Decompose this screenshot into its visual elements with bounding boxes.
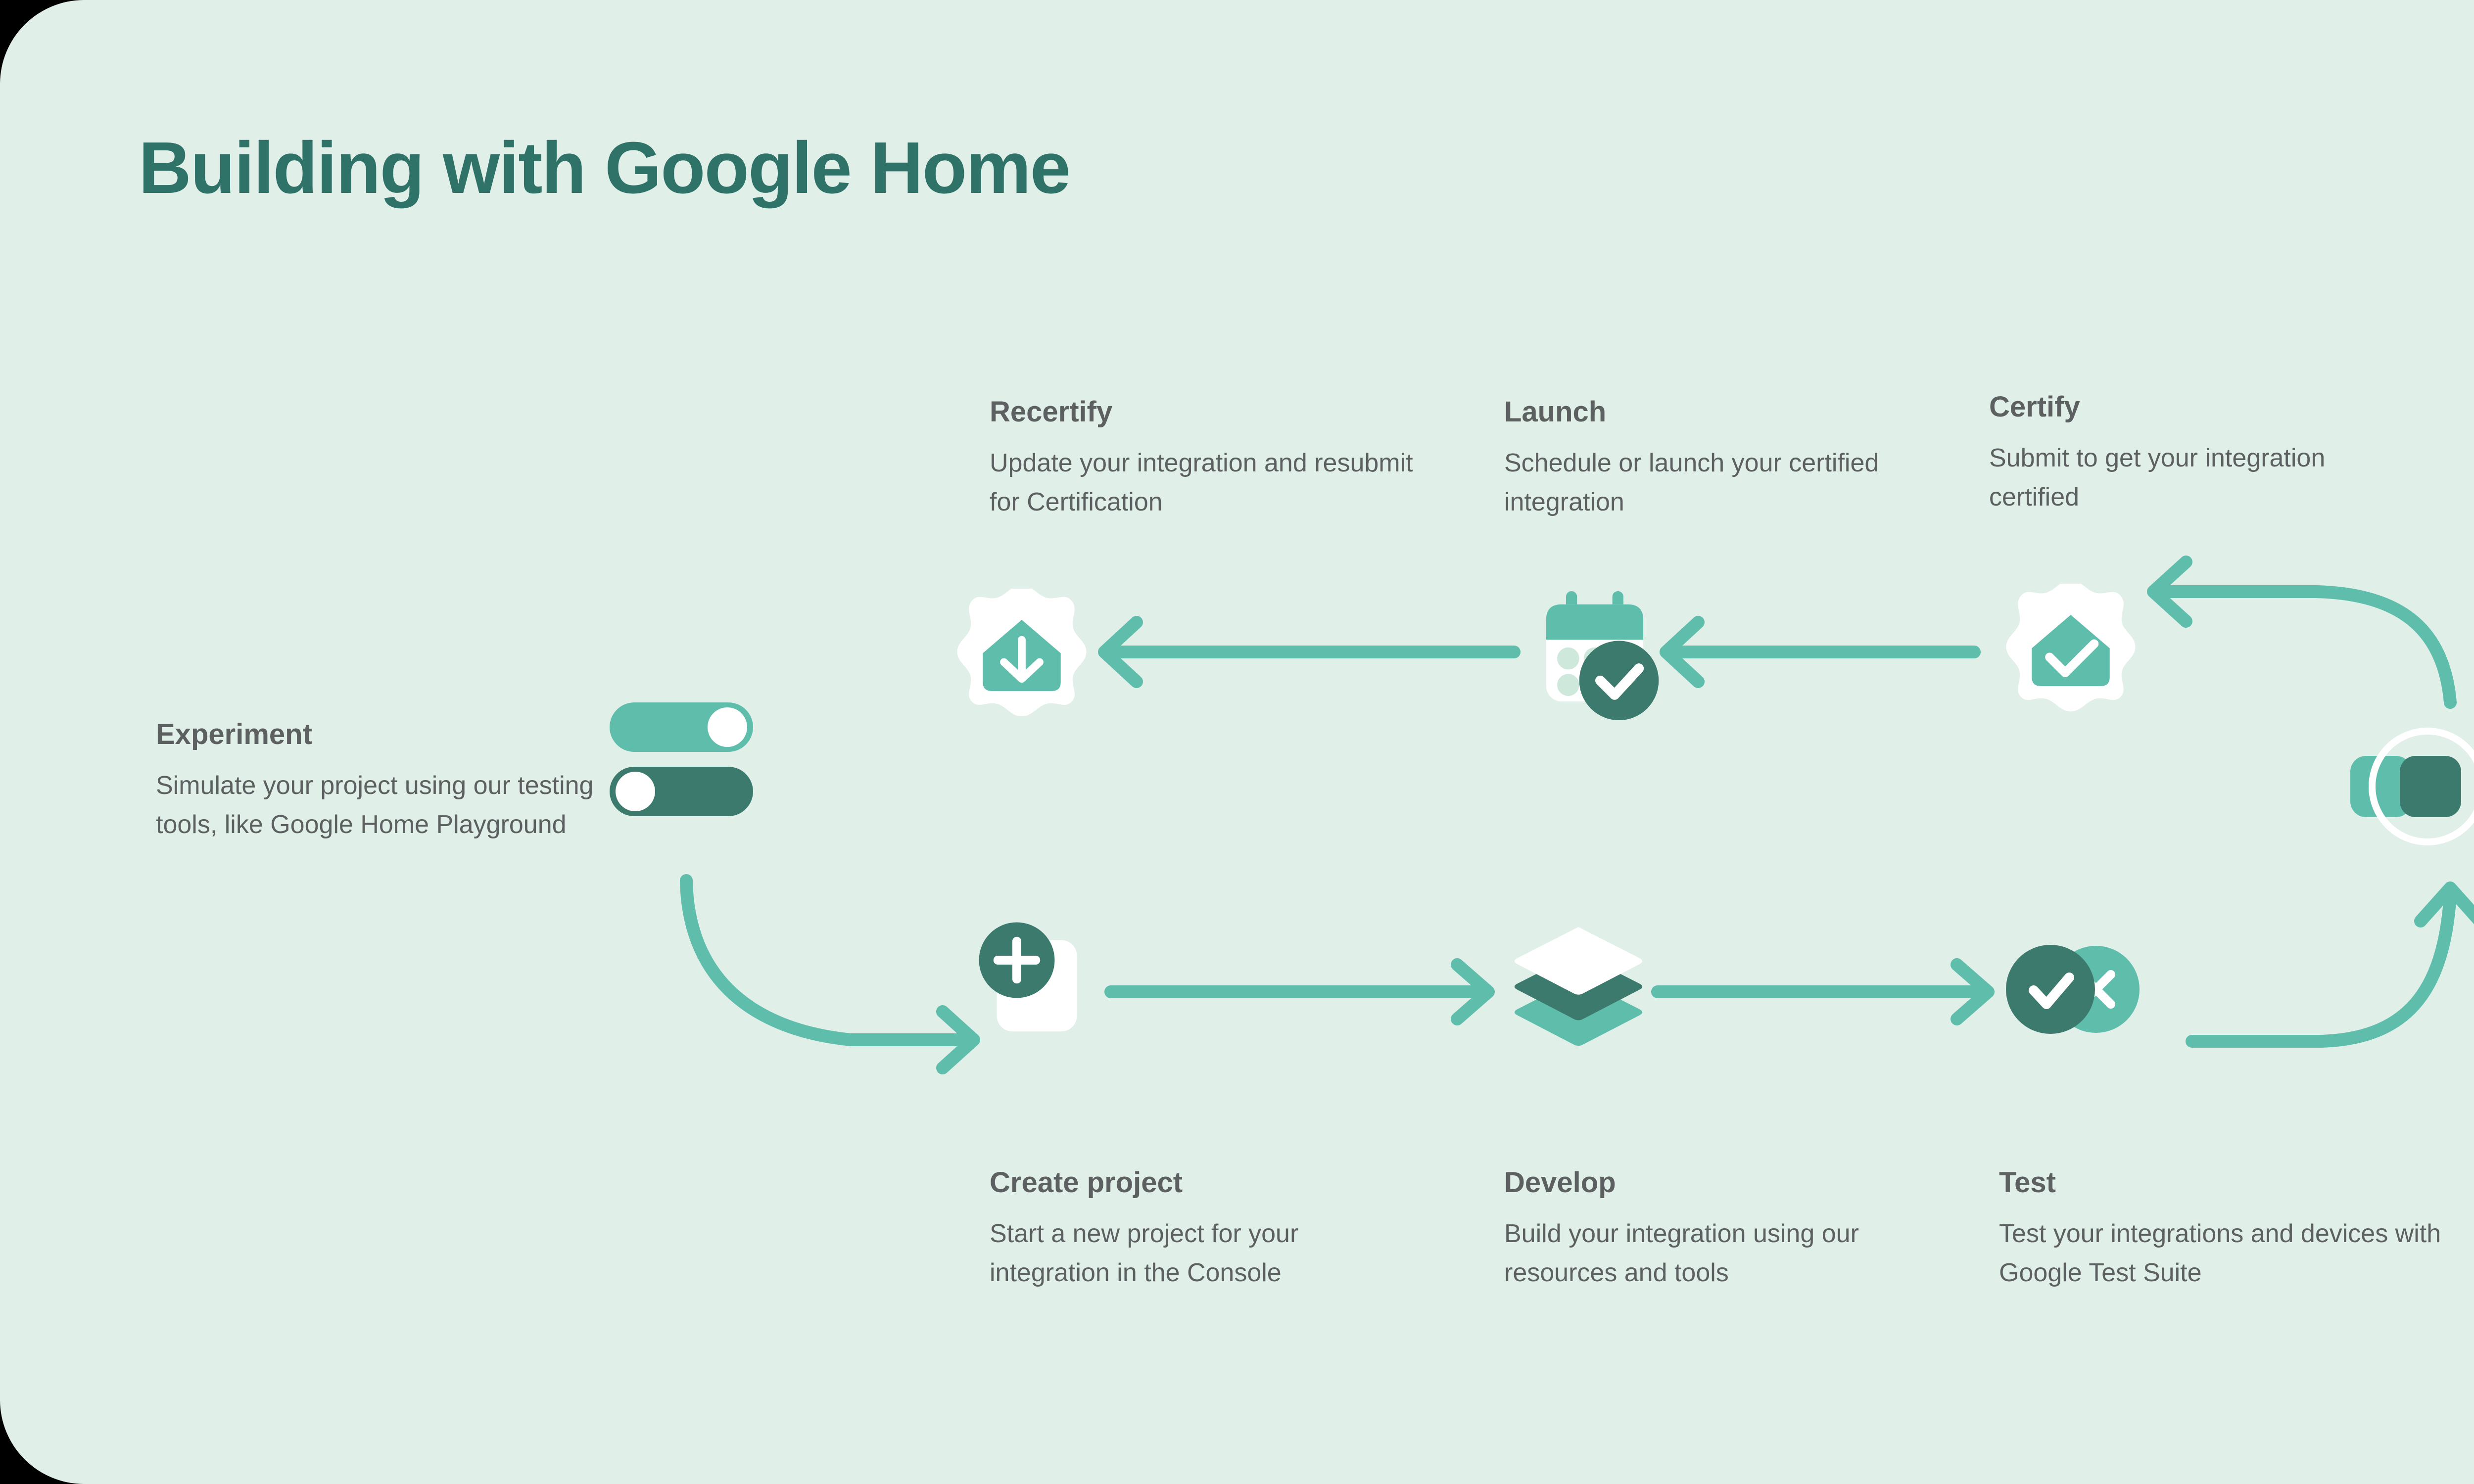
step-title: Develop [1504, 1166, 1940, 1200]
step-certify: Certify Submit to get your integration c… [1989, 391, 2395, 517]
arrow-test-to-field-trial [2192, 888, 2474, 1041]
step-title: Experiment [156, 718, 601, 751]
layers-icon [1509, 923, 1648, 1056]
step-launch: Launch Schedule or launch your certified… [1504, 396, 1910, 522]
step-title: Create project [990, 1166, 1425, 1200]
badge-check-icon [2004, 584, 2138, 717]
step-title: Recertify [990, 396, 1425, 429]
step-description: Submit to get your integration certified [1989, 439, 2395, 517]
toggle-switches-icon [610, 702, 758, 821]
step-description: Build your integration using our resourc… [1504, 1214, 1940, 1293]
toggle-knob [616, 772, 655, 811]
arrow-field-trial-to-certify [2153, 562, 2450, 702]
toggle-off-icon [610, 767, 753, 816]
step-develop: Develop Build your integration using our… [1504, 1166, 1940, 1293]
check-and-cross-circles-icon [1999, 940, 2157, 1039]
step-title: Test [1999, 1166, 2474, 1200]
step-description: Schedule or launch your certified integr… [1504, 444, 1910, 522]
step-description: Test your integrations and devices with … [1999, 1214, 2474, 1293]
step-create-project: Create project Start a new project for y… [990, 1166, 1425, 1293]
calendar-check-icon [1533, 589, 1676, 727]
arrow-develop-to-test [1658, 965, 1988, 1019]
diagram-canvas: Building with Google Home [0, 0, 2474, 1484]
step-description: Simulate your project using our testing … [156, 766, 601, 844]
step-test: Test Test your integrations and devices … [1999, 1166, 2474, 1293]
new-document-plus-icon [972, 920, 1106, 1054]
badge-download-icon [955, 589, 1089, 722]
arrow-experiment-to-create-project [686, 881, 974, 1068]
arrow-certify-to-launch [1666, 622, 1974, 682]
arrow-launch-to-recertify [1104, 622, 1514, 682]
step-title: Launch [1504, 396, 1910, 429]
step-experiment: Experiment Simulate your project using o… [156, 718, 601, 844]
arrow-create-project-to-develop [1111, 965, 1488, 1019]
toggle-knob [708, 707, 747, 747]
step-recertify: Recertify Update your integration and re… [990, 396, 1425, 522]
step-title: Certify [1989, 391, 2395, 424]
two-devices-icon [2340, 712, 2474, 861]
toggle-on-icon [610, 702, 753, 752]
step-description: Start a new project for your integration… [990, 1214, 1425, 1293]
page-title: Building with Google Home [139, 126, 1070, 210]
step-description: Update your integration and resubmit for… [990, 444, 1425, 522]
